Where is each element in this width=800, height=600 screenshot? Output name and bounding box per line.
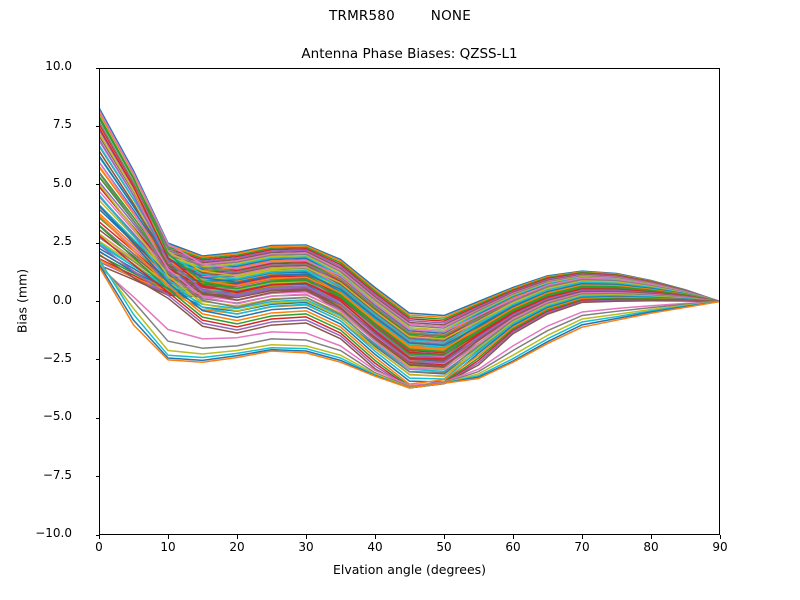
- y-tick-text: 2.5: [53, 234, 72, 248]
- figure-canvas: TRMR580 NONE Antenna Phase Biases: QZSS-…: [0, 0, 800, 600]
- y-tick-text: −7.5: [43, 468, 72, 482]
- x-tick-mark: [168, 535, 169, 539]
- x-tick-mark: [651, 535, 652, 539]
- y-tick-text: −2.5: [43, 351, 72, 365]
- line-series-svg: [99, 68, 720, 535]
- y-tick-mark: [96, 476, 100, 477]
- x-tick-label: 0: [95, 540, 103, 554]
- x-tick-label: 50: [436, 540, 451, 554]
- x-tick-mark: [513, 535, 514, 539]
- x-tick-mark: [375, 535, 376, 539]
- y-tick-mark: [96, 359, 100, 360]
- y-tick-text: 5.0: [53, 176, 72, 190]
- y-tick-mark: [96, 243, 100, 244]
- plot-area: [99, 68, 720, 535]
- x-tick-label: 40: [367, 540, 382, 554]
- x-tick-label: 60: [505, 540, 520, 554]
- y-tick-text: 7.5: [53, 117, 72, 131]
- y-tick-text: 10.0: [45, 59, 72, 73]
- y-tick-text: 0.0: [53, 293, 72, 307]
- x-tick-mark: [237, 535, 238, 539]
- x-tick-mark: [582, 535, 583, 539]
- x-tick-label: 90: [712, 540, 727, 554]
- y-tick-mark: [96, 301, 100, 302]
- axes-title: Antenna Phase Biases: QZSS-L1: [99, 46, 720, 62]
- figure-suptitle: TRMR580 NONE: [0, 8, 800, 24]
- y-axis-label: Bias (mm): [15, 269, 30, 333]
- y-tick-mark: [96, 418, 100, 419]
- x-tick-mark: [99, 535, 100, 539]
- y-tick-mark: [96, 184, 100, 185]
- y-tick-mark: [96, 126, 100, 127]
- x-tick-label: 20: [229, 540, 244, 554]
- x-tick-mark: [720, 535, 721, 539]
- y-tick-mark: [96, 68, 100, 69]
- x-tick-label: 10: [160, 540, 175, 554]
- x-axis-label: Elvation angle (degrees): [99, 562, 720, 577]
- x-tick-mark: [306, 535, 307, 539]
- x-tick-mark: [444, 535, 445, 539]
- y-tick-text: −10.0: [35, 526, 72, 540]
- x-tick-label: 70: [574, 540, 589, 554]
- y-tick-text: −5.0: [43, 409, 72, 423]
- x-tick-label: 80: [643, 540, 658, 554]
- x-tick-label: 30: [298, 540, 313, 554]
